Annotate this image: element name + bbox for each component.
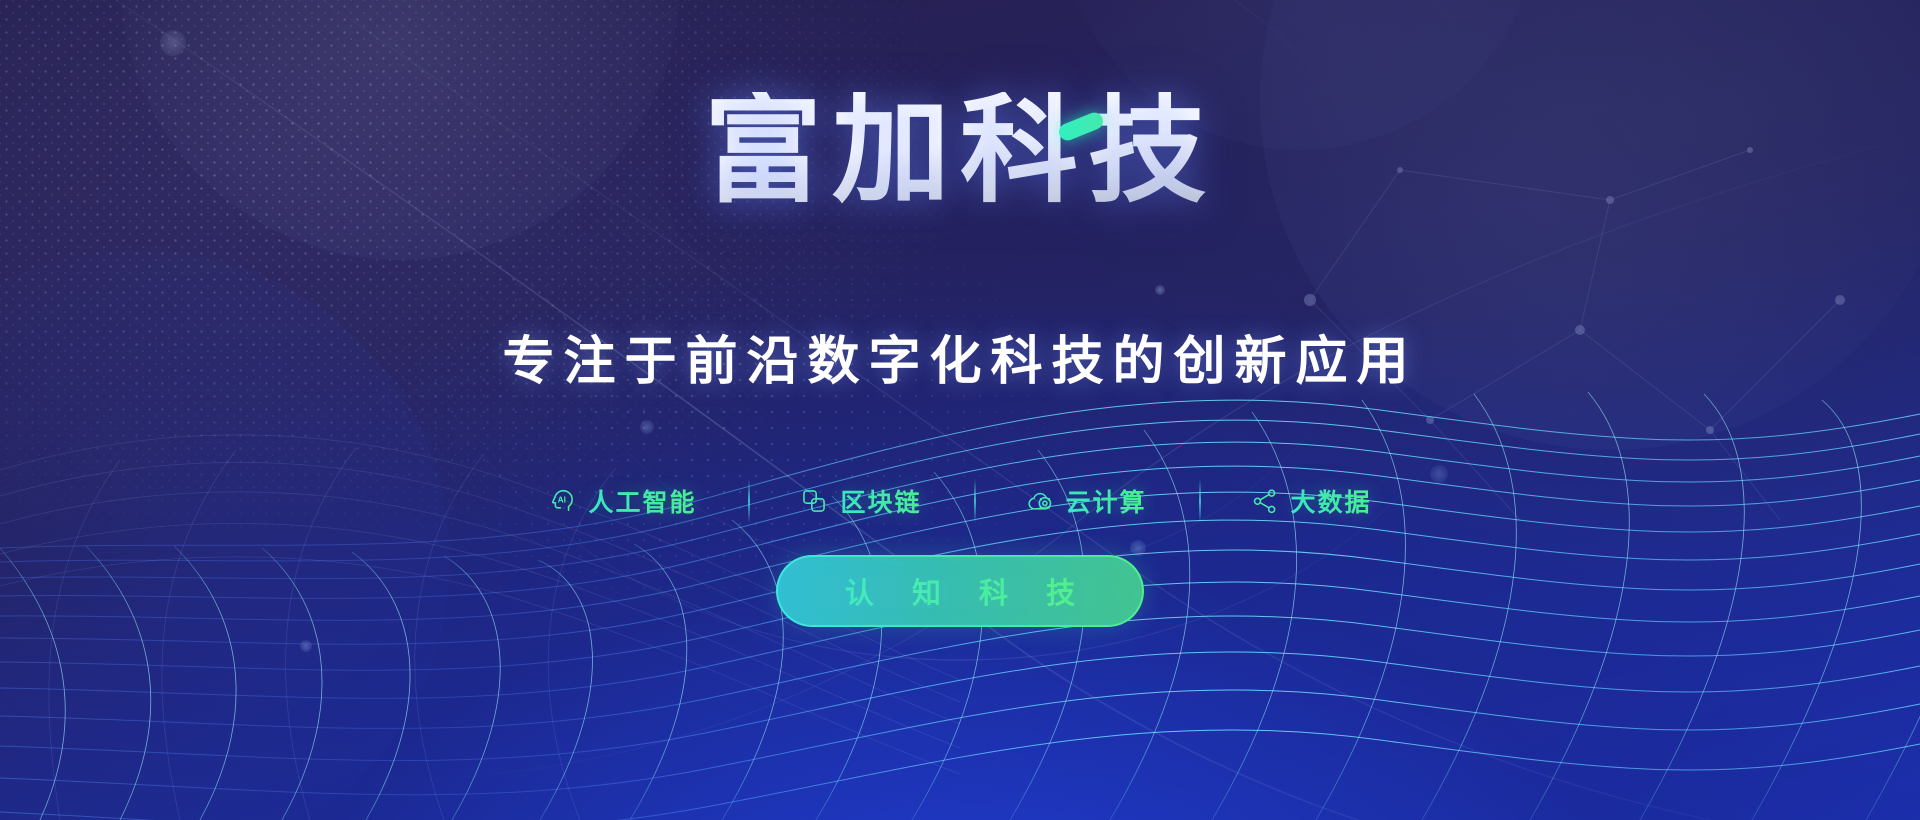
feature-tag-bigdata[interactable]: 大数据	[1199, 483, 1424, 519]
feature-tag-blockchain[interactable]: 区块链	[748, 483, 973, 519]
ai-head-icon: AI	[548, 487, 576, 515]
feature-tag-cloud[interactable]: 云计算	[974, 483, 1199, 519]
hero-banner: 富加科技 专注于前沿数字化科技的创新应用 AI 人工智能	[0, 0, 1920, 820]
feature-tag-label: 大数据	[1291, 483, 1372, 519]
share-network-icon	[1251, 487, 1279, 515]
brand-title-text: 富加科技	[704, 85, 1216, 217]
svg-text:AI: AI	[558, 495, 566, 505]
feature-tag-label: 人工智能	[588, 483, 696, 519]
feature-tag-list: AI 人工智能 区块链	[496, 483, 1423, 519]
hero-content: 富加科技 专注于前沿数字化科技的创新应用 AI 人工智能	[0, 0, 1920, 820]
feature-tag-label: 云计算	[1066, 483, 1147, 519]
cognitive-tech-button-label: 认 知 科 技	[830, 570, 1090, 612]
page-title: 富加科技	[704, 92, 1216, 210]
feature-tag-label: 区块链	[840, 483, 921, 519]
cloud-gear-icon	[1026, 487, 1054, 515]
cognitive-tech-button[interactable]: 认 知 科 技	[776, 555, 1144, 627]
feature-tag-ai[interactable]: AI 人工智能	[496, 483, 748, 519]
hero-subtitle: 专注于前沿数字化科技的创新应用	[502, 319, 1417, 394]
blockchain-blocks-icon	[800, 487, 828, 515]
